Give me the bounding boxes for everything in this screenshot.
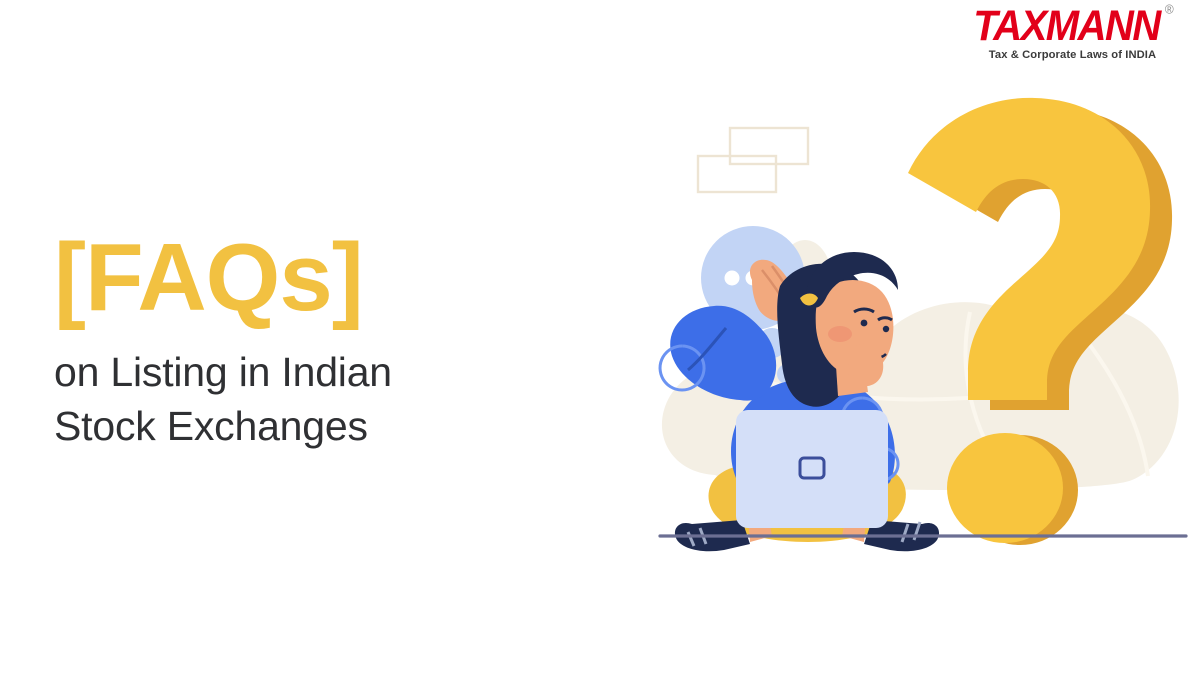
page-subtitle-line-1: on Listing in Indian: [54, 345, 614, 400]
decorative-rectangles-icon: [698, 128, 808, 192]
page-subtitle: on Listing in Indian Stock Exchanges: [54, 345, 614, 454]
page-title: [FAQs]: [54, 228, 614, 329]
brand-wordmark-text: TAXMANN: [973, 3, 1160, 50]
headline-block: [FAQs] on Listing in Indian Stock Exchan…: [54, 228, 614, 454]
brand-tagline: Tax & Corporate Laws of INDIA: [965, 49, 1180, 61]
hero-illustration: [640, 80, 1200, 580]
page-subtitle-line-2: Stock Exchanges: [54, 399, 614, 454]
brand-wordmark: TAXMANN®: [973, 5, 1172, 47]
poster-canvas: TAXMANN® Tax & Corporate Laws of INDIA […: [0, 0, 1200, 675]
registered-trademark-icon: ®: [1165, 3, 1174, 16]
laptop-icon: [736, 410, 888, 528]
taxmann-logo: TAXMANN® Tax & Corporate Laws of INDIA: [965, 6, 1180, 61]
